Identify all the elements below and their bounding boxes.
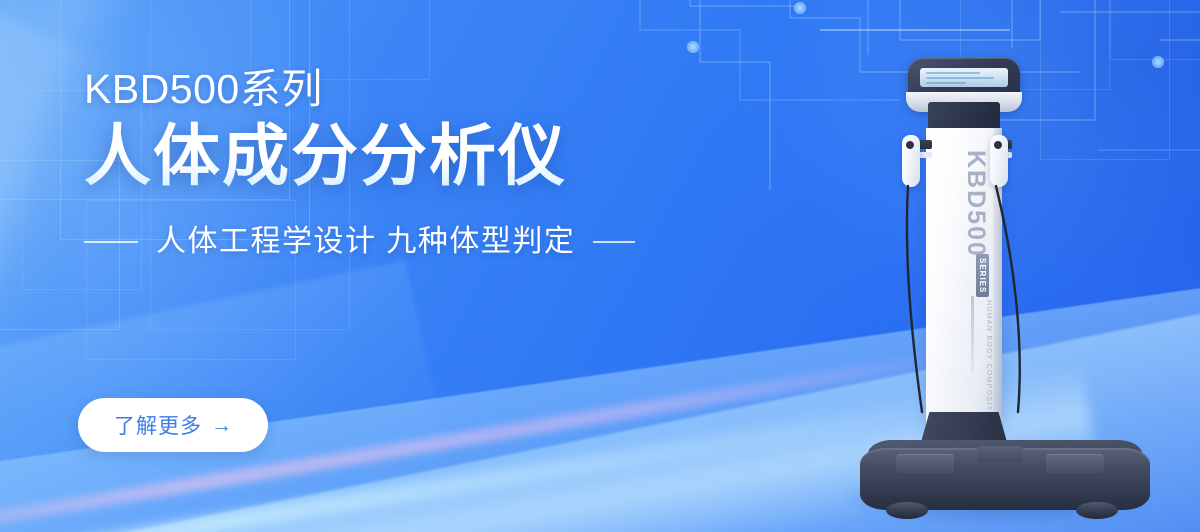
arrow-right-icon: → <box>211 415 232 436</box>
foot-electrode-right <box>1046 454 1104 473</box>
subtitle-dash-right <box>593 241 635 243</box>
platform-foot-right <box>1076 502 1118 519</box>
product-hero-banner: KBD500 SERIES HUMAN BODY COMPOSITION ANA… <box>0 0 1200 532</box>
device-series-badge: SERIES <box>976 254 989 297</box>
platform-center-panel <box>977 446 1023 462</box>
product-series-label: KBD500系列 <box>84 68 704 111</box>
device-hand-electrode-left <box>902 135 920 187</box>
device-brand-label: KBD500 <box>961 150 990 258</box>
electrode-contact-dot <box>906 141 914 149</box>
subtitle-dash-left <box>84 241 138 243</box>
learn-more-button[interactable]: 了解更多 → <box>78 398 268 452</box>
diagonal-band-upper-left <box>0 260 459 532</box>
learn-more-label: 了解更多 <box>114 410 202 440</box>
electrode-contact-dot <box>994 141 1002 149</box>
hero-subtitle: 人体工程学设计 九种体型判定 <box>156 224 575 260</box>
page-title: 人体成分分析仪 <box>84 121 704 193</box>
device-grip-mount-left <box>918 152 932 158</box>
foot-electrode-left <box>896 454 954 473</box>
device-stripe <box>971 296 974 374</box>
hero-subtitle-row: 人体工程学设计 九种体型判定 <box>84 224 704 260</box>
platform-foot-left <box>886 502 928 519</box>
hero-text-block: KBD500系列 人体成分分析仪 人体工程学设计 九种体型判定 <box>84 68 704 260</box>
device-hand-electrode-right <box>990 135 1008 187</box>
body-composition-analyzer-image: KBD500 SERIES HUMAN BODY COMPOSITION ANA… <box>838 40 1168 520</box>
device-screen <box>920 68 1008 87</box>
